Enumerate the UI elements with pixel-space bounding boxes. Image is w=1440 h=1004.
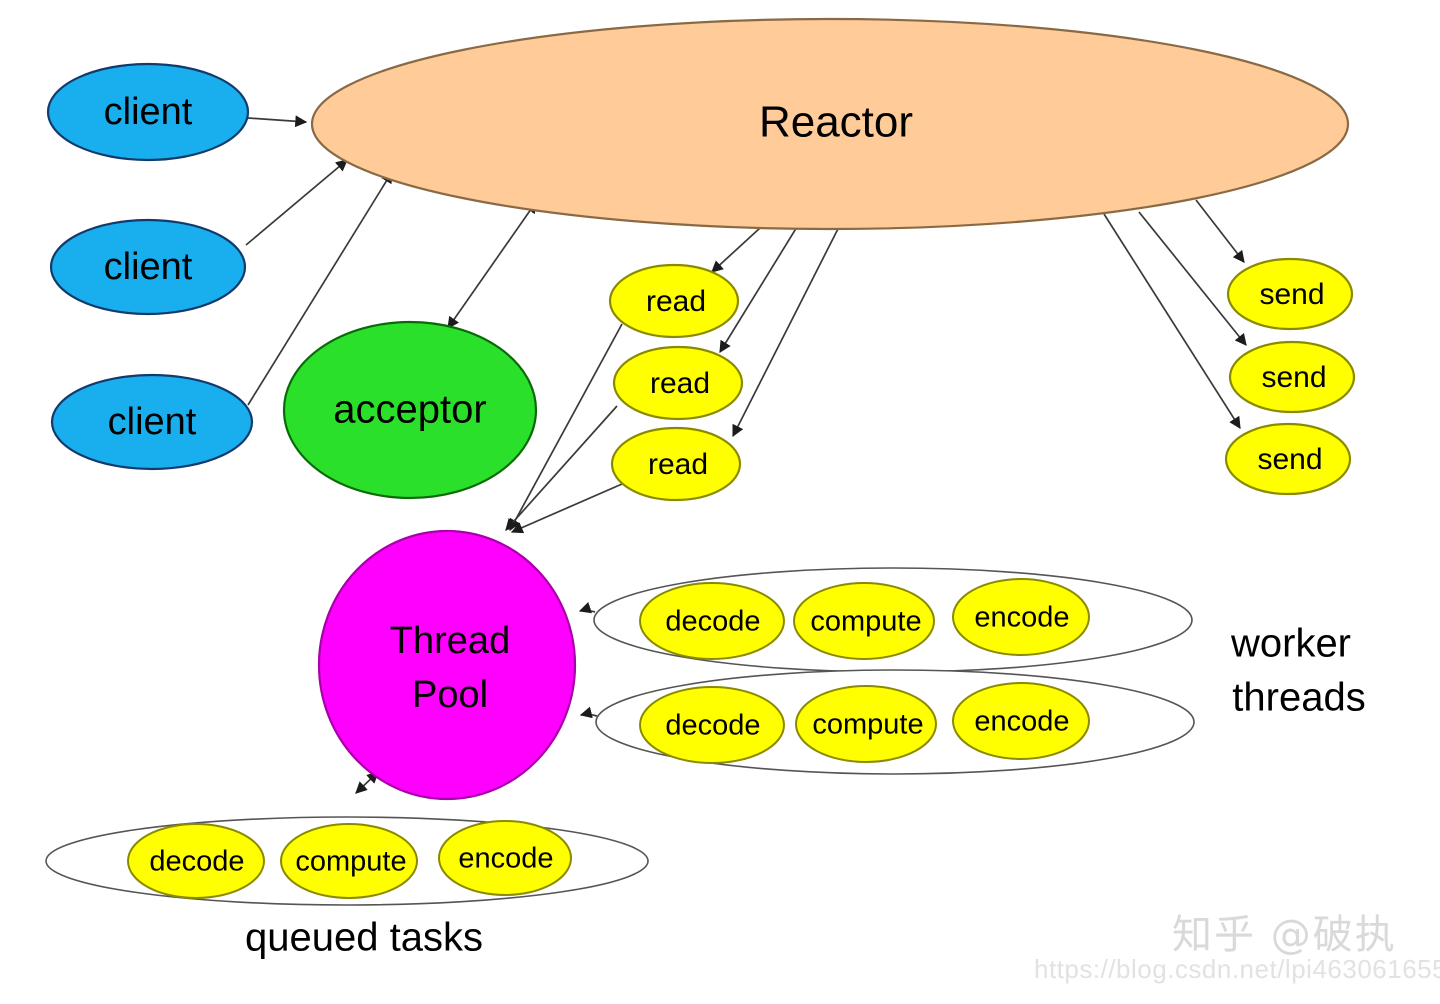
node-read-1[interactable]: read xyxy=(610,265,738,337)
edge-reactor-to-read3 xyxy=(733,215,845,436)
send-3-label: send xyxy=(1257,443,1322,476)
client-2-label: client xyxy=(104,246,193,288)
edge-reactor-to-send3 xyxy=(1104,214,1240,428)
node-send-3[interactable]: send xyxy=(1226,424,1350,494)
node-thread-pool[interactable]: Thread Pool xyxy=(319,531,575,799)
node-reactor[interactable]: Reactor xyxy=(312,19,1348,229)
worker-g2-compute-label: compute xyxy=(812,709,923,741)
watermark-brand: 知乎 @破执 xyxy=(1172,912,1397,958)
queued-tasks-caption: queued tasks xyxy=(245,916,483,960)
worker-threads-caption-line2: threads xyxy=(1232,676,1365,720)
node-send-2[interactable]: send xyxy=(1230,342,1354,412)
edge-reactor-to-send2 xyxy=(1139,212,1246,345)
node-read-2[interactable]: read xyxy=(614,347,742,419)
watermark: 知乎 @破执 https://blog.csdn.net/lpi46306165… xyxy=(1034,912,1440,984)
node-read-3[interactable]: read xyxy=(612,428,740,500)
node-send-1[interactable]: send xyxy=(1228,259,1352,329)
worker-g2-encode-label: encode xyxy=(974,706,1069,738)
client-3-label: client xyxy=(108,401,197,443)
watermark-url: https://blog.csdn.net/lpi463061655 xyxy=(1034,954,1440,984)
node-client-1[interactable]: client xyxy=(48,64,248,160)
client-1-label: client xyxy=(104,91,193,133)
reactor-diagram: Reactor client client client acceptor re… xyxy=(0,0,1440,1004)
send-1-label: send xyxy=(1259,278,1324,311)
worker-g2-decode-label: decode xyxy=(665,710,760,742)
thread-pool-label-line1: Thread xyxy=(390,620,510,662)
worker-g1-encode-label: encode xyxy=(974,602,1069,634)
queued-compute-label: compute xyxy=(295,846,406,878)
worker-group-2-task-encode[interactable]: encode xyxy=(953,683,1089,759)
edge-client1-to-reactor xyxy=(248,118,306,122)
queued-task-compute[interactable]: compute xyxy=(281,824,417,898)
queued-encode-label: encode xyxy=(458,843,553,875)
queued-decode-label: decode xyxy=(149,846,244,878)
worker-group-1-task-encode[interactable]: encode xyxy=(953,579,1089,655)
worker-threads-caption-line1: worker xyxy=(1230,622,1351,666)
worker-group-1-task-compute[interactable]: compute xyxy=(794,583,934,659)
node-acceptor[interactable]: acceptor xyxy=(284,322,536,498)
worker-g1-decode-label: decode xyxy=(665,606,760,638)
node-client-2[interactable]: client xyxy=(51,220,245,314)
thread-pool-ellipse xyxy=(319,531,575,799)
reactor-label: Reactor xyxy=(759,98,913,147)
diagram-canvas: Reactor client client client acceptor re… xyxy=(0,0,1440,1004)
edge-reactor-to-read1 xyxy=(712,228,760,272)
read-1-label: read xyxy=(646,285,706,318)
worker-group-2-task-decode[interactable]: decode xyxy=(640,687,784,763)
worker-group-2-task-compute[interactable]: compute xyxy=(796,686,936,762)
worker-g1-compute-label: compute xyxy=(810,606,921,638)
edge-read3-to-pool xyxy=(512,484,622,532)
edge-worker-group2-to-pool xyxy=(581,714,597,716)
worker-group-1-task-decode[interactable]: decode xyxy=(640,583,784,659)
edge-reactor-to-send1 xyxy=(1196,200,1244,262)
read-2-label: read xyxy=(650,367,710,400)
thread-pool-label-line2: Pool xyxy=(412,674,488,716)
edge-reactor-acceptor xyxy=(448,202,536,328)
read-3-label: read xyxy=(648,448,708,481)
queued-task-encode[interactable]: encode xyxy=(439,821,571,895)
send-2-label: send xyxy=(1261,361,1326,394)
node-client-3[interactable]: client xyxy=(52,375,252,469)
acceptor-label: acceptor xyxy=(333,388,486,432)
edge-worker-group1-to-pool xyxy=(580,610,595,612)
edge-client2-to-reactor xyxy=(246,160,347,245)
queued-task-decode[interactable]: decode xyxy=(128,824,264,898)
